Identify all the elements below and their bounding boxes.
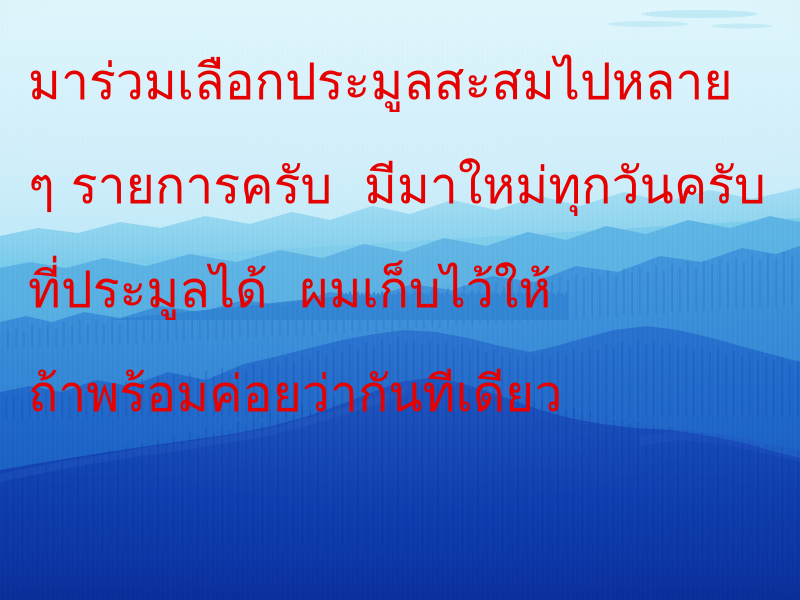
mountain-landscape-photo (0, 0, 800, 600)
image-canvas: มาร่วมเลือกประมูลสะสมไปหลาย ๆ รายการครับ… (0, 0, 800, 600)
